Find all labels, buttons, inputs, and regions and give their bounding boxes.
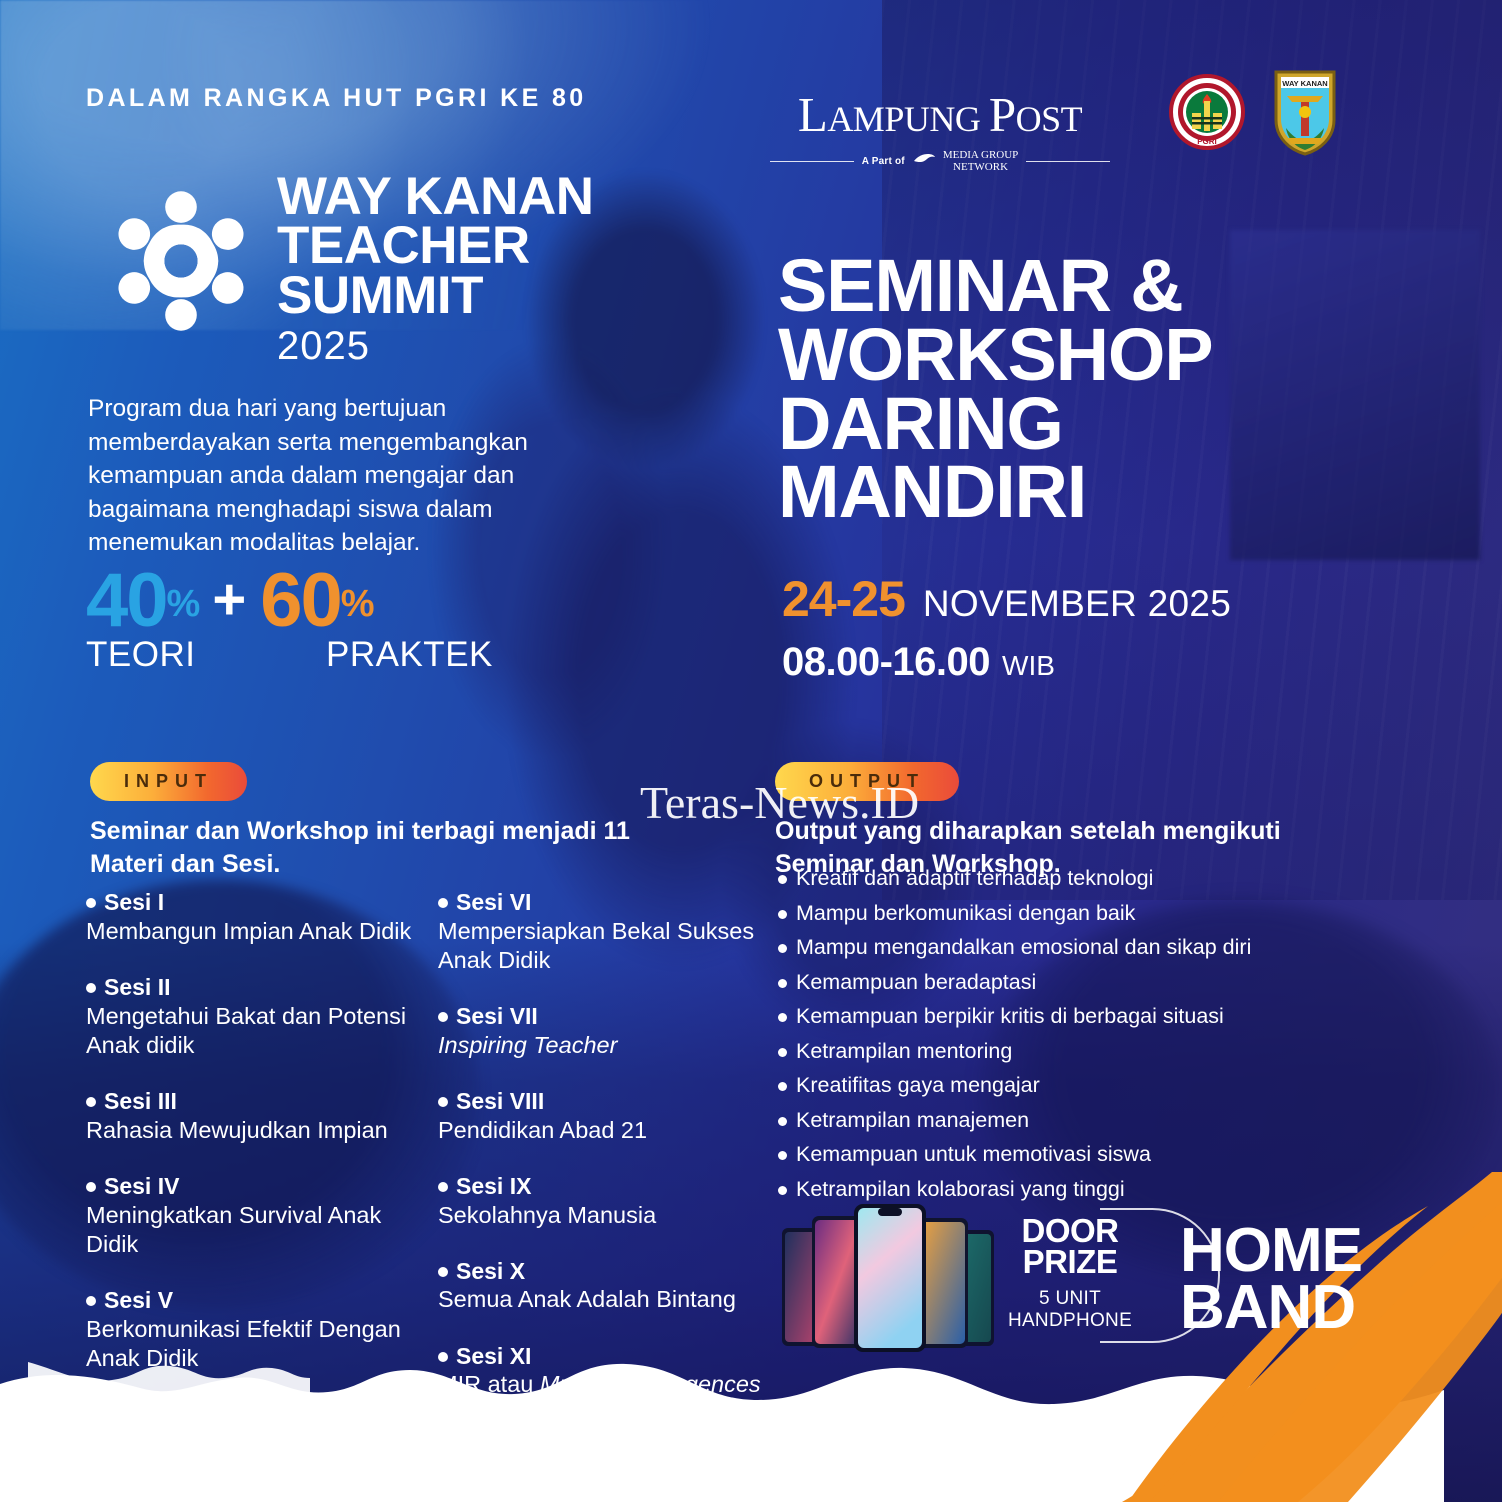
door-prize-sub-line2: HANDPHONE — [975, 1310, 1165, 1333]
schedule-timezone: WIB — [1002, 650, 1055, 682]
output-item: Kemampuan untuk memotivasi siswa — [778, 1144, 1338, 1166]
output-item-label: Kreatifitas gaya mengajar — [796, 1075, 1040, 1097]
lp-cap-p: P — [989, 87, 1016, 142]
svg-text:WAY KANAN: WAY KANAN — [1282, 79, 1327, 88]
output-item: Kreatifitas gaya mengajar — [778, 1075, 1338, 1097]
session-item: Sesi IIIRahasia Mewujudkan Impian — [86, 1087, 416, 1145]
headline-line1: SEMINAR & — [778, 252, 1338, 321]
lp-ampung: AMPUNG — [827, 99, 989, 139]
organization-emblems: PGRI WAY KANAN — [1168, 68, 1338, 163]
bullet-icon — [778, 910, 787, 919]
session-item: Sesi IVMeningkatkan Survival Anak Didik — [86, 1172, 416, 1259]
headline-line4: MANDIRI — [778, 458, 1338, 527]
event-year: 2025 — [277, 324, 707, 369]
bullet-icon — [86, 983, 96, 993]
schedule-time-row: 08.00-16.00 WIB — [782, 640, 1342, 685]
output-item: Mampu berkomunikasi dengan baik — [778, 903, 1338, 925]
pgri-emblem-icon: PGRI — [1168, 68, 1246, 161]
output-item-label: Kemampuan untuk memotivasi siswa — [796, 1144, 1151, 1166]
session-item: Sesi VIIInspiring Teacher — [438, 1002, 768, 1060]
lampung-post-logo: LAMPUNG POST A Part of MEDIA GROUP NETWO… — [770, 86, 1110, 173]
bullet-icon — [86, 1182, 96, 1192]
output-item: Kreatif dan adaptif terhadap teknologi — [778, 868, 1338, 890]
session-description: Rahasia Mewujudkan Impian — [86, 1116, 416, 1145]
bullet-icon — [778, 944, 787, 953]
bullet-icon — [438, 898, 448, 908]
session-name-label: Sesi II — [104, 974, 170, 1000]
bullet-icon — [438, 1097, 448, 1107]
practice-label: PRAKTEK — [326, 635, 493, 675]
input-heading: Seminar dan Workshop ini terbagi menjadi… — [90, 815, 690, 880]
session-name-label: Sesi IV — [104, 1173, 179, 1199]
session-name-label: Sesi III — [104, 1088, 177, 1114]
session-item: Sesi IXSekolahnya Manusia — [438, 1172, 768, 1230]
event-title-line2: TEACHER — [277, 221, 707, 270]
practice-value: 60 — [260, 558, 341, 643]
sponsor-name: HOME BAND — [1180, 1222, 1362, 1336]
input-section: INPUT Seminar dan Workshop ini terbagi m… — [90, 762, 690, 880]
way-kanan-emblem-icon: WAY KANAN — [1272, 68, 1338, 163]
session-item: Sesi VIMempersiapkan Bekal Sukses Anak D… — [438, 888, 768, 975]
session-description: Pendidikan Abad 21 — [438, 1116, 768, 1145]
session-name: Sesi VII — [438, 1002, 768, 1031]
bullet-icon — [778, 1186, 787, 1195]
door-prize-block: DOOR PRIZE 5 UNIT HANDPHONE — [975, 1215, 1165, 1333]
bullet-icon — [438, 1182, 448, 1192]
output-item-label: Mampu mengandalkan emosional dan sikap d… — [796, 937, 1251, 959]
ratio-block: 40% + 60% TEORI PRAKTEK — [86, 565, 606, 675]
session-name-label: Sesi I — [104, 889, 164, 915]
session-description: Membangun Impian Anak Didik — [86, 917, 416, 946]
schedule-time: 08.00-16.00 — [782, 640, 990, 685]
output-item: Ketrampilan mentoring — [778, 1041, 1338, 1063]
session-name: Sesi IX — [438, 1172, 768, 1201]
session-name: Sesi IV — [86, 1172, 416, 1201]
sponsor-line1: HOME — [1180, 1222, 1362, 1279]
sponsor-line2: BAND — [1180, 1279, 1362, 1336]
session-name-label: Sesi VI — [456, 889, 531, 915]
media-group-eagle-icon — [913, 152, 935, 171]
session-name: Sesi VI — [438, 888, 768, 917]
session-name: Sesi II — [86, 973, 416, 1002]
session-name-label: Sesi IX — [456, 1173, 531, 1199]
people-circle-logo-icon — [88, 168, 274, 354]
schedule-date-row: 24-25 NOVEMBER 2025 — [782, 570, 1342, 628]
session-description: Sekolahnya Manusia — [438, 1201, 768, 1230]
rule-left — [770, 161, 854, 162]
session-name-label: Sesi VIII — [456, 1088, 544, 1114]
output-item: Ketrampilan manajemen — [778, 1110, 1338, 1132]
bullet-icon — [86, 1097, 96, 1107]
svg-text:PGRI: PGRI — [1197, 137, 1217, 146]
output-item: Mampu mengandalkan emosional dan sikap d… — [778, 937, 1338, 959]
ratio-numbers: 40% + 60% — [86, 565, 606, 637]
watermark: Teras-News.ID — [640, 776, 919, 829]
bullet-icon — [778, 1151, 787, 1160]
session-description: Mempersiapkan Bekal Sukses Anak Didik — [438, 917, 768, 975]
bullet-icon — [778, 979, 787, 988]
rule-right — [1026, 161, 1110, 162]
session-description: Mengetahui Bakat dan Potensi Anak didik — [86, 1002, 416, 1060]
schedule-block: 24-25 NOVEMBER 2025 08.00-16.00 WIB — [782, 570, 1342, 685]
output-item-label: Ketrampilan manajemen — [796, 1110, 1029, 1132]
media-group-network-label: MEDIA GROUP NETWORK — [943, 150, 1018, 173]
media-group-line: A Part of MEDIA GROUP NETWORK — [770, 150, 1110, 173]
theory-value-group: 40% — [86, 565, 200, 637]
session-description: Meningkatkan Survival Anak Didik — [86, 1201, 416, 1259]
lp-ost: OST — [1016, 99, 1083, 139]
network-text: NETWORK — [953, 161, 1008, 173]
page-title: SEMINAR & WORKSHOP DARING MANDIRI — [778, 252, 1338, 527]
headline-line2: WORKSHOP — [778, 321, 1338, 390]
event-poster: DALAM RANGKA HUT PGRI KE 80 — [0, 0, 1502, 1502]
a-part-of-label: A Part of — [862, 156, 905, 167]
output-item-label: Kemampuan beradaptasi — [796, 972, 1036, 994]
output-item: Kemampuan beradaptasi — [778, 972, 1338, 994]
event-title-line3: SUMMIT — [277, 271, 707, 320]
output-item-label: Kreatif dan adaptif terhadap teknologi — [796, 868, 1153, 890]
session-item: Sesi VIIIPendidikan Abad 21 — [438, 1087, 768, 1145]
session-name: Sesi I — [86, 888, 416, 917]
smartphones-stack-icon — [780, 1200, 1000, 1355]
output-item-label: Kemampuan berpikir kritis di berbagai si… — [796, 1006, 1224, 1028]
plus-sign: + — [212, 571, 246, 629]
bullet-icon — [86, 898, 96, 908]
bullet-icon — [778, 1117, 787, 1126]
schedule-days: 24-25 — [782, 570, 905, 628]
bullet-icon — [438, 1012, 448, 1022]
lead-paragraph: Program dua hari yang bertujuan memberda… — [88, 392, 618, 560]
lp-cap-l: L — [798, 87, 827, 142]
door-prize-sub-line1: 5 UNIT — [975, 1288, 1165, 1311]
theory-value: 40 — [86, 558, 167, 643]
practice-value-group: 60% — [260, 565, 374, 637]
theory-label: TEORI — [86, 635, 326, 675]
session-name: Sesi III — [86, 1087, 416, 1116]
event-title-line1: WAY KANAN — [277, 172, 707, 221]
lampung-post-wordmark: LAMPUNG POST — [770, 86, 1110, 143]
media-group-text: MEDIA GROUP — [943, 149, 1018, 161]
bullet-icon — [778, 1048, 787, 1057]
session-item: Sesi IMembangun Impian Anak Didik — [86, 888, 416, 946]
output-item-list: Kreatif dan adaptif terhadap teknologiMa… — [778, 868, 1338, 1213]
input-badge: INPUT — [90, 762, 247, 801]
hut-tagline: DALAM RANGKA HUT PGRI KE 80 — [86, 84, 587, 113]
headline-line3: DARING — [778, 390, 1338, 459]
practice-percent-symbol: % — [341, 583, 375, 625]
session-description: Inspiring Teacher — [438, 1031, 768, 1060]
session-name: Sesi VIII — [438, 1087, 768, 1116]
door-prize-title-line2: PRIZE — [975, 1246, 1165, 1277]
session-item: Sesi IIMengetahui Bakat dan Potensi Anak… — [86, 973, 416, 1060]
ratio-labels: TEORI PRAKTEK — [86, 635, 606, 675]
bullet-icon — [778, 1013, 787, 1022]
schedule-month-year: NOVEMBER 2025 — [923, 583, 1231, 625]
output-item-label: Mampu berkomunikasi dengan baik — [796, 903, 1135, 925]
theory-percent-symbol: % — [167, 583, 201, 625]
event-title: WAY KANAN TEACHER SUMMIT 2025 — [277, 172, 707, 369]
output-item-label: Ketrampilan mentoring — [796, 1041, 1012, 1063]
bullet-icon — [778, 1082, 787, 1091]
door-prize-title-line1: DOOR — [975, 1215, 1165, 1246]
output-item: Kemampuan berpikir kritis di berbagai si… — [778, 1006, 1338, 1028]
session-name-label: Sesi VII — [456, 1003, 538, 1029]
bullet-icon — [778, 875, 787, 884]
